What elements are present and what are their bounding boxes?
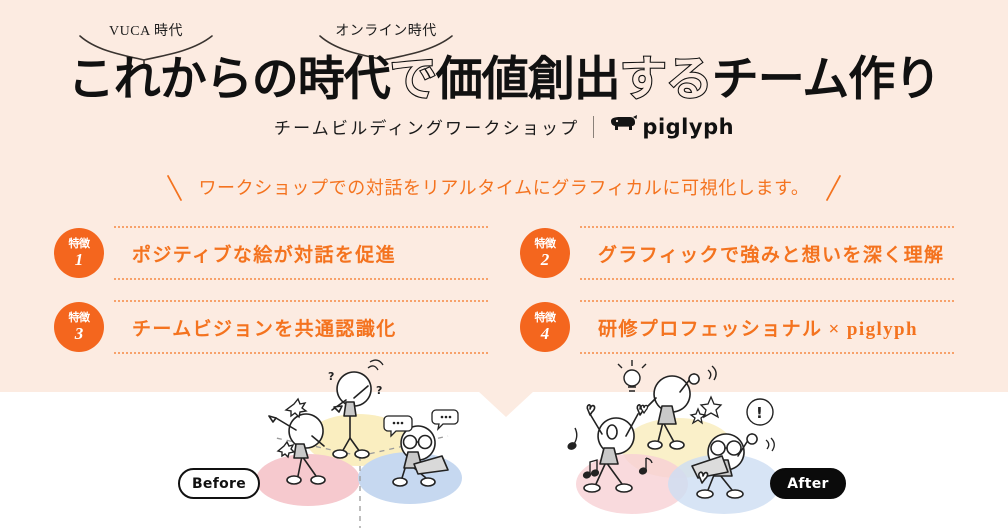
feature-item-2: 特徴 2 グラフィックで強みと想いを深く理解 [520, 222, 954, 284]
svg-text:?: ? [328, 370, 334, 383]
feature-item-4: 特徴 4 研修プロフェッショナル × piglyph [520, 296, 954, 358]
title-part-2: で [390, 52, 436, 107]
feature-text-3: チームビジョンを共通認識化 [132, 314, 397, 341]
feature-text-4: 研修プロフェッショナル × piglyph [598, 314, 918, 341]
feature-badge-label: 特徴 [535, 238, 556, 249]
title-part-4: する [620, 52, 712, 107]
title-part-5: チーム作り [712, 52, 941, 107]
feature-badge-label: 特徴 [69, 312, 90, 323]
before-badge: Before [178, 468, 260, 499]
feature-badge-number: 1 [75, 251, 84, 268]
eyebrow-vuca: VUCA 時代 [86, 20, 206, 40]
slash-right-icon [824, 174, 842, 200]
feature-badge-number: 2 [541, 251, 550, 268]
feature-badge-label: 特徴 [69, 238, 90, 249]
comparison-illustration: ?? [0, 352, 1008, 530]
feature-item-1: 特徴 1 ポジティブな絵が対話を促進 [54, 222, 488, 284]
poster-root: VUCA 時代 オンライン時代 これからの時代で価値創出するチーム作り チームビ… [0, 0, 1008, 530]
feature-text-wrap-1: ポジティブな絵が対話を促進 [114, 226, 488, 280]
feature-badge-3: 特徴 3 [54, 302, 104, 352]
feature-text-wrap-2: グラフィックで強みと想いを深く理解 [580, 226, 954, 280]
feature-badge-label: 特徴 [535, 312, 556, 323]
feature-text-wrap-4: 研修プロフェッショナル × piglyph [580, 300, 954, 354]
feature-text-1: ポジティブな絵が対話を促進 [132, 240, 396, 267]
page-title: これからの時代で価値創出するチーム作り [0, 56, 1008, 103]
brand-logo: piglyph [608, 114, 734, 139]
tagline-text: ワークショップでの対話をリアルタイムにグラフィカルに可視化します。 [198, 174, 809, 200]
feature-badge-2: 特徴 2 [520, 228, 570, 278]
feature-badge-number: 3 [75, 325, 84, 342]
svg-text:!: ! [756, 404, 763, 422]
feature-item-3: 特徴 3 チームビジョンを共通認識化 [54, 296, 488, 358]
feature-badge-4: 特徴 4 [520, 302, 570, 352]
after-badge: After [770, 468, 846, 499]
title-part-3: 価値創出 [436, 52, 620, 107]
svg-text:?: ? [376, 384, 382, 397]
subtitle-divider [593, 116, 594, 138]
feature-text-wrap-3: チームビジョンを共通認識化 [114, 300, 488, 354]
feature-grid: 特徴 1 ポジティブな絵が対話を促進 特徴 2 グラフィックで強みと想いを深く理… [54, 222, 954, 358]
title-part-1: これからの時代 [68, 52, 390, 107]
feature-badge-1: 特徴 1 [54, 228, 104, 278]
slash-left-icon [166, 174, 184, 200]
eyebrow-online: オンライン時代 [326, 20, 446, 40]
brand-name: piglyph [642, 115, 734, 139]
before-scene: ?? [250, 352, 490, 530]
after-scene: ! [560, 352, 810, 530]
before-label: Before [192, 476, 246, 492]
feature-text-2: グラフィックで強みと想いを深く理解 [598, 240, 944, 267]
subtitle: チームビルディングワークショップ [274, 114, 580, 139]
feature-badge-number: 4 [541, 325, 550, 342]
tagline-row: ワークショップでの対話をリアルタイムにグラフィカルに可視化します。 [0, 174, 1008, 200]
after-label: After [787, 476, 829, 492]
pig-logo-icon [608, 114, 638, 139]
subtitle-row: チームビルディングワークショップ piglyph [0, 114, 1008, 139]
